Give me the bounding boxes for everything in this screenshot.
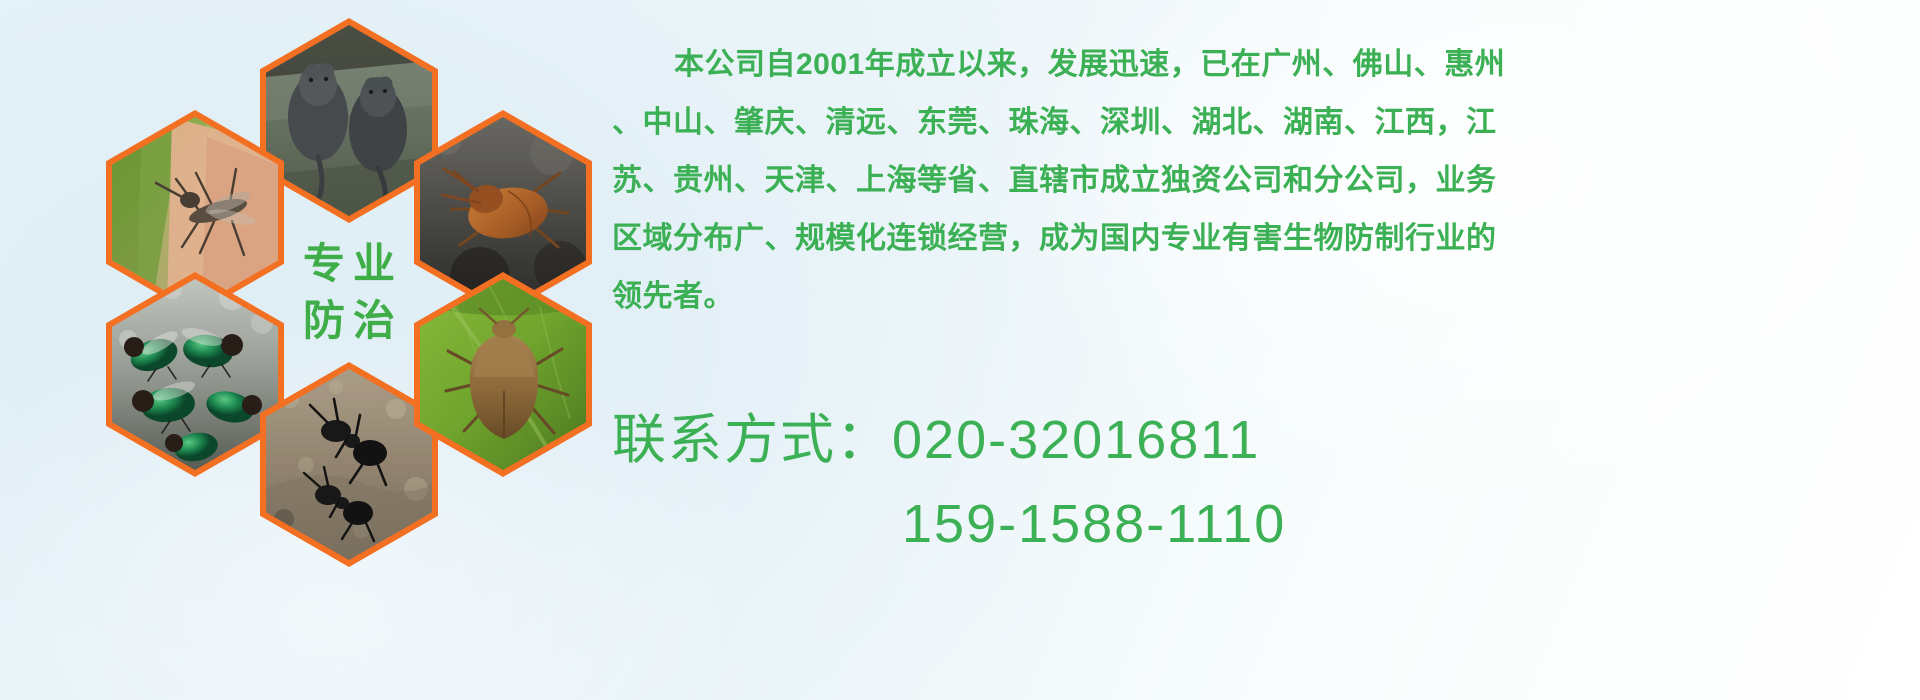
hex-photo-flies	[112, 279, 278, 470]
contact-phone-mobile[interactable]: 159-1588-1110	[612, 482, 1902, 566]
intro-paragraph: 本公司自2001年成立以来，发展迅速，已在广州、佛山、惠州 、中山、肇庆、清远、…	[612, 36, 1902, 326]
honeycomb-gallery: 专业 防治	[90, 0, 610, 580]
promo-banner: 专业 防治 本公司自2001年成立以来，发展迅速，已在广州、佛山、惠州 、中山、…	[0, 0, 1920, 700]
intro-line-5: 领先者。	[612, 268, 1902, 326]
hex-cell-stink-bug[interactable]	[414, 272, 592, 477]
hex-photo-ants	[266, 369, 432, 560]
hex-photo-rats	[266, 25, 432, 216]
hex-cell-flies[interactable]	[106, 272, 284, 477]
ants-photo-illustration	[266, 369, 432, 560]
honeycomb-center-label: 专业 防治	[260, 190, 438, 395]
contact-phone-landline[interactable]: 联系方式：020-32016811	[612, 398, 1902, 482]
rats-photo-illustration	[266, 25, 432, 216]
intro-line-4: 区域分布广、规模化连锁经营，成为国内专业有害生物防制行业的	[612, 210, 1902, 268]
center-label-line-2: 防治	[295, 293, 403, 350]
intro-line-3: 苏、贵州、天津、上海等省、直辖市成立独资公司和分公司，业务	[612, 152, 1902, 210]
stink-bug-photo-illustration	[420, 279, 586, 470]
intro-line-2: 、中山、肇庆、清远、东莞、珠海、深圳、湖北、湖南、江西，江	[612, 94, 1902, 152]
flies-photo-illustration	[112, 279, 278, 470]
hex-photo-stink-bug	[420, 279, 586, 470]
center-label-line-1: 专业	[295, 236, 403, 293]
intro-line-1: 本公司自2001年成立以来，发展迅速，已在广州、佛山、惠州	[612, 36, 1902, 94]
contact-block: 联系方式：020-32016811 159-1588-1110	[612, 398, 1902, 566]
